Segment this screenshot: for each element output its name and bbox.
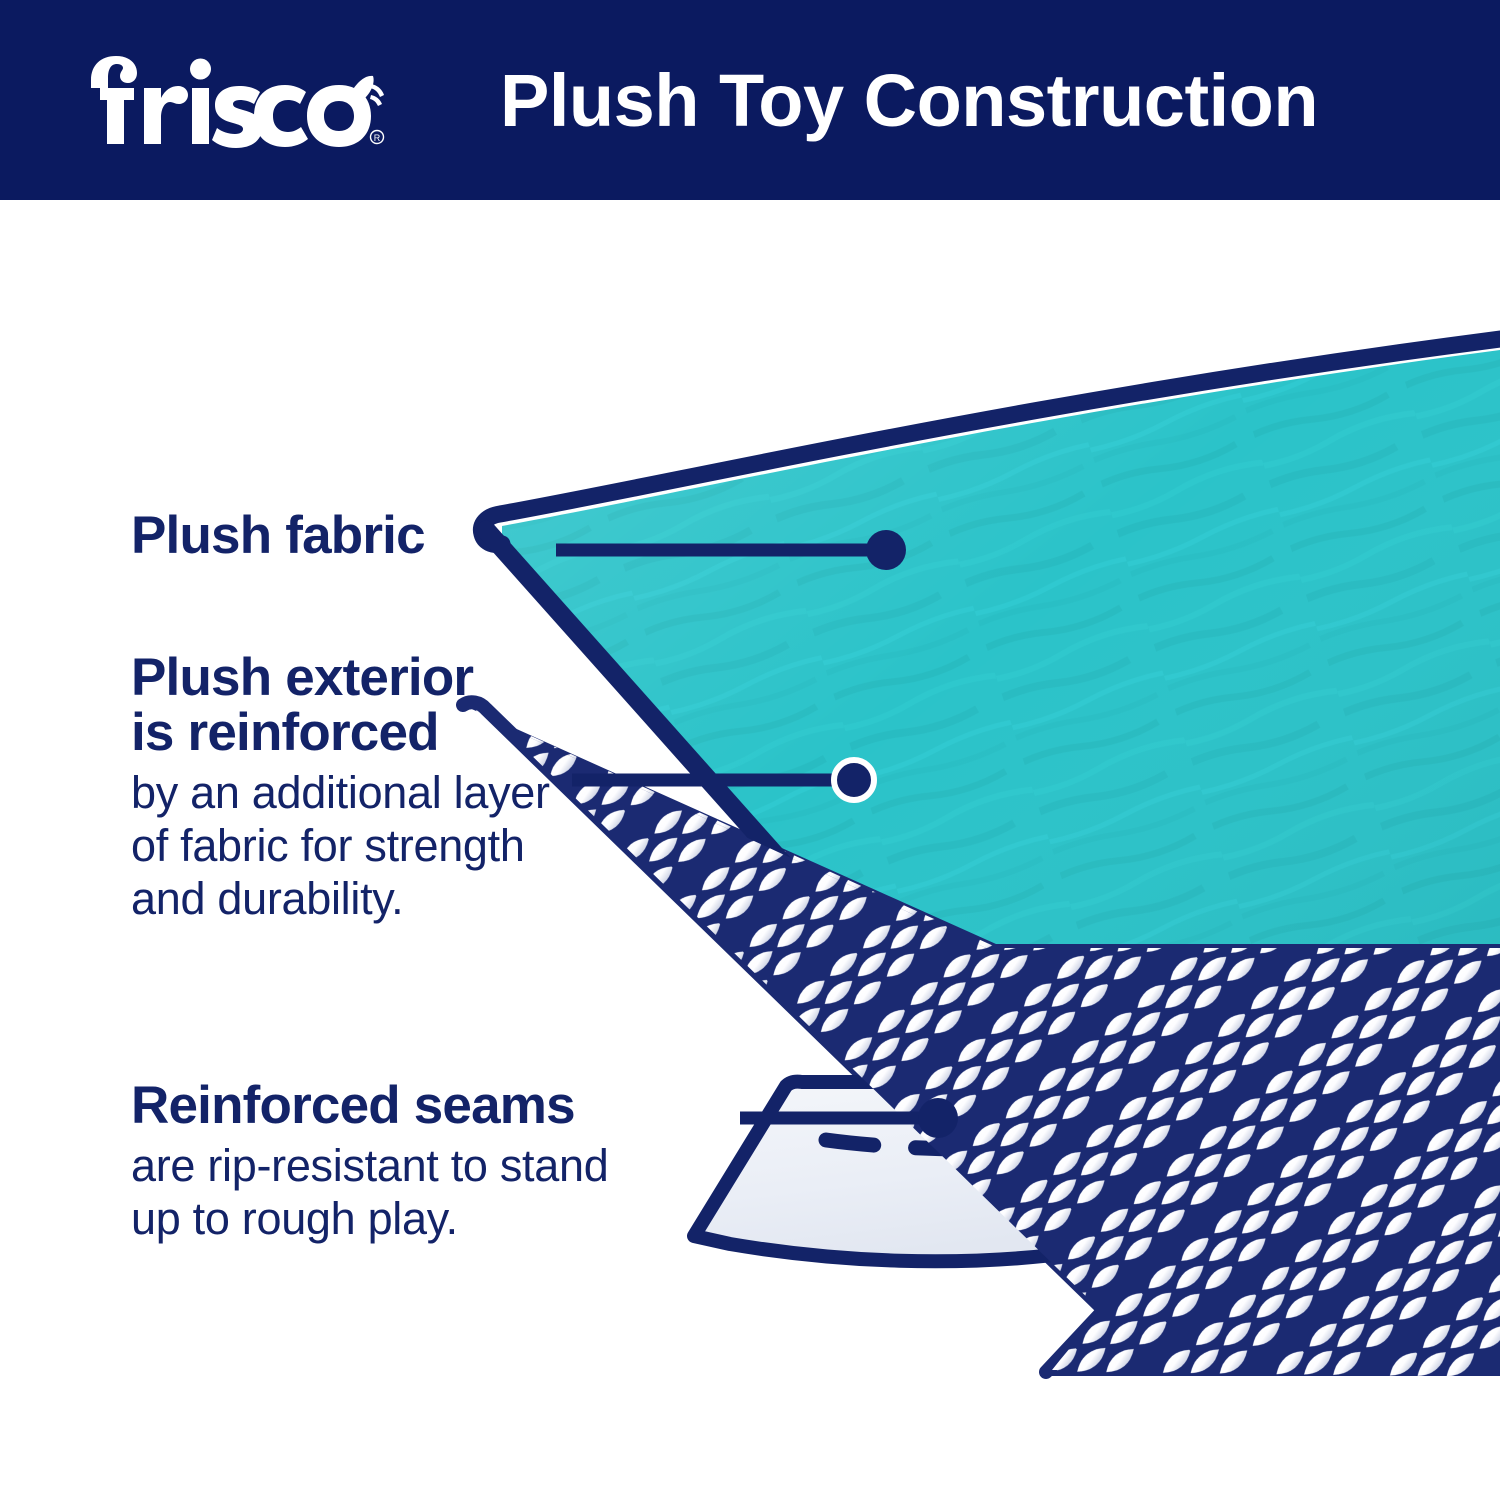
callout-plush-fabric: Plush fabric [131, 508, 425, 563]
callout-plush-fabric-headline: Plush fabric [131, 508, 425, 563]
svg-text:R: R [374, 133, 381, 143]
callout-reinforced-seams-body: are rip-resistant to stand up to rough p… [131, 1139, 608, 1245]
callout-plush-exterior: Plush exterior is reinforced by an addit… [131, 650, 550, 926]
leader-dot-plush-fabric [866, 530, 906, 570]
leader-dot-reinforced-seams [918, 1098, 958, 1138]
leader-dot-plush-exterior [834, 760, 874, 800]
callout-reinforced-seams-headline: Reinforced seams [131, 1078, 608, 1133]
callout-plush-exterior-body: by an additional layer of fabric for str… [131, 766, 550, 925]
infographic-canvas: R Plush Toy Construction [0, 0, 1500, 1500]
frisco-logo: R [86, 44, 386, 154]
callout-reinforced-seams: Reinforced seams are rip-resistant to st… [131, 1078, 608, 1245]
page-title: Plush Toy Construction [500, 0, 1318, 200]
callout-plush-exterior-headline: Plush exterior is reinforced [131, 650, 550, 760]
header-band: R Plush Toy Construction [0, 0, 1500, 200]
